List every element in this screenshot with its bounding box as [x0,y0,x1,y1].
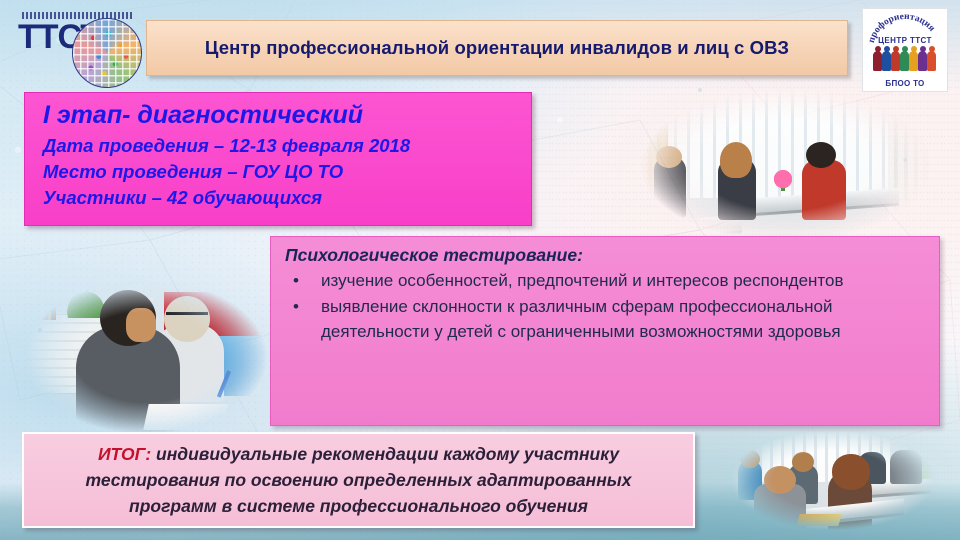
stage-title: I этап- диагностический [43,101,531,131]
photo-classroom-top [606,70,960,260]
stage-line-participants: Участники – 42 обучающихся [43,185,531,211]
stage-line-place: Место проведения – ГОУ ЦО ТО [43,159,531,185]
result-label: ИТОГ: [98,444,151,464]
list-item-text: выявление склонности к различным сферам … [321,297,841,341]
photo-group-bottom [706,418,960,540]
bullet-glyph: • [293,295,299,320]
ttct-logo: ТТСТ [14,12,140,90]
header-banner: Центр профессиональной ориентации инвали… [146,20,848,76]
result-line-1-text: индивидуальные рекомендации каждому учас… [151,444,619,464]
stage-line-date: Дата проведения – 12-13 февраля 2018 [43,133,531,159]
list-item-text: изучение особенностей, предпочтений и ин… [321,271,844,290]
list-item: • выявление склонности к различным сфера… [285,295,925,345]
testing-heading: Психологическое тестирование: [285,245,925,266]
proforientaciya-bottom-text: БПОО ТО [863,79,947,88]
proforientaciya-center-text: ЦЕНТР ТТСТ [863,36,947,45]
testing-bullet-list: • изучение особенностей, предпочтений и … [285,269,925,345]
result-line-2: тестирования по освоению определенных ад… [86,467,632,493]
ttct-mosaic-sphere-icon [72,18,142,88]
stage-info-box: I этап- диагностический Дата проведения … [24,92,532,226]
proforientaciya-people-icon [873,47,937,73]
proforientaciya-logo: профориентация ЦЕНТР ТТСТ БПОО ТО [862,8,948,92]
list-item: • изучение особенностей, предпочтений и … [285,269,925,294]
header-banner-title: Центр профессиональной ориентации инвали… [205,37,789,59]
testing-info-box: Психологическое тестирование: • изучение… [270,236,940,426]
result-line-1: ИТОГ: индивидуальные рекомендации каждом… [98,441,619,467]
slide-canvas: ТТСТ Центр профессиональной ориентации и… [0,0,960,540]
photo-student-teacher [0,262,296,452]
bullet-glyph: • [293,269,299,294]
result-info-box: ИТОГ: индивидуальные рекомендации каждом… [22,432,695,528]
result-line-3: программ в системе профессионального обу… [129,493,588,519]
